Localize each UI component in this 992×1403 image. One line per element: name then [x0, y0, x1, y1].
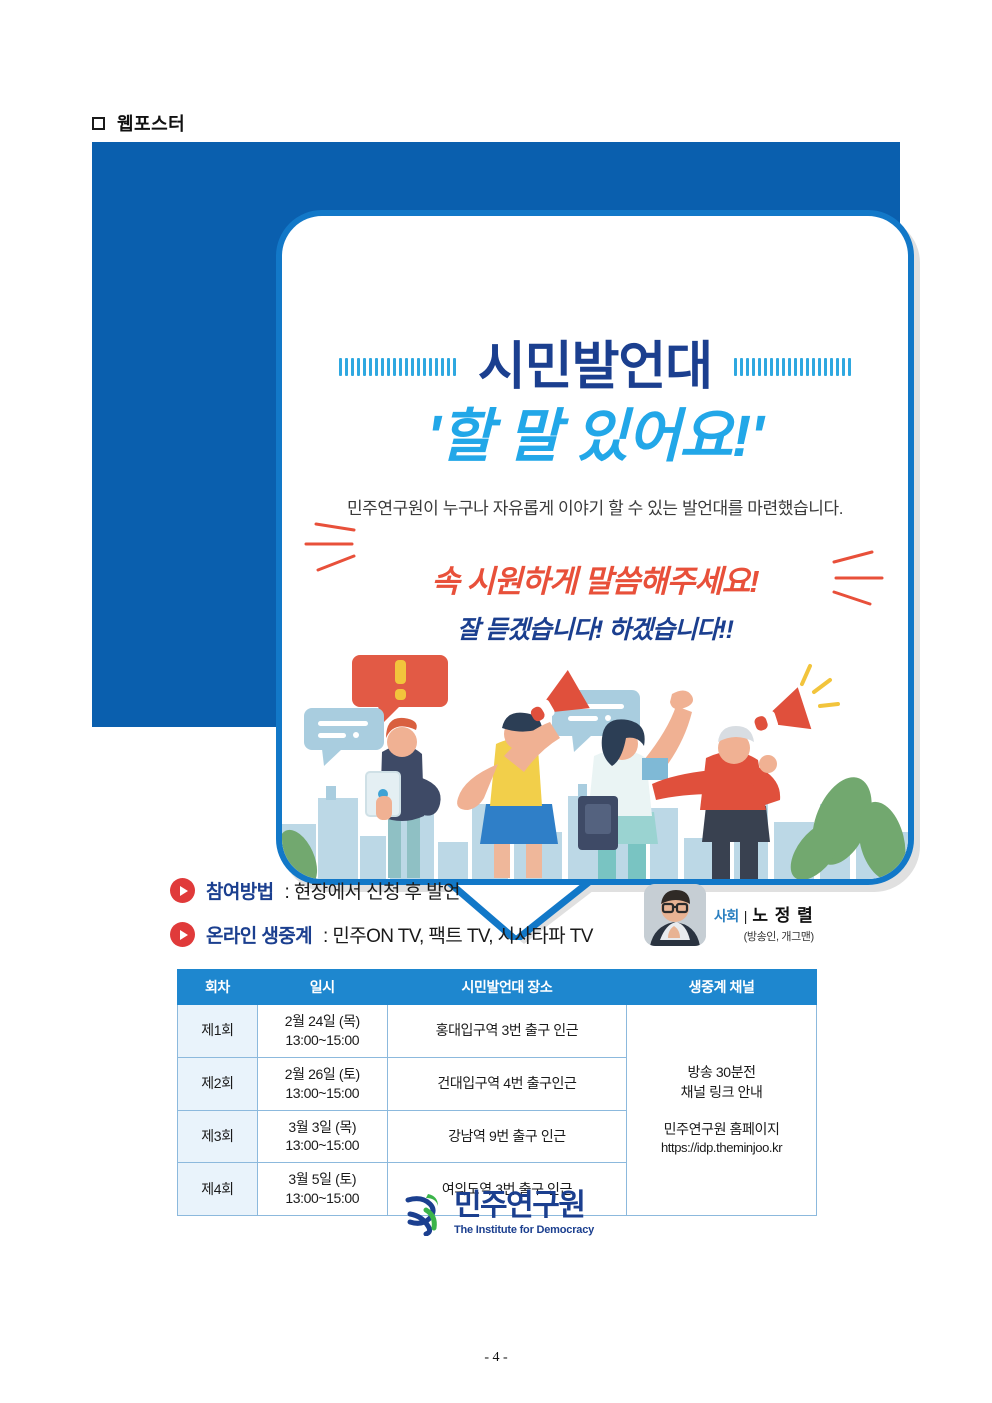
- document-section-header: 웹포스터: [92, 110, 185, 136]
- poster-shout-row: 속 시원하게 말씀해주세요!: [282, 556, 908, 601]
- cell-place: 홍대입구역 3번 출구 인근: [387, 1005, 626, 1058]
- play-circle-icon: [170, 878, 195, 903]
- spark-left-icon: [296, 522, 366, 582]
- logo-english-name: The Institute for Democracy: [454, 1224, 594, 1236]
- channel-spacer: [631, 1103, 812, 1119]
- table-row: 제1회 2월 24일 (목) 13:00~15:00 홍대입구역 3번 출구 인…: [178, 1005, 817, 1058]
- table-header-round: 회차: [178, 970, 258, 1005]
- square-bullet-icon: [92, 117, 105, 130]
- poster-lead-text: 민주연구원이 누구나 자유롭게 이야기 할 수 있는 발언대를 마련했습니다.: [282, 494, 908, 519]
- channel-line-2: 채널 링크 안내: [631, 1082, 812, 1102]
- people-megaphone-illustration-icon: [282, 646, 908, 885]
- info-value: : 민주ON TV, 팩트 TV, 시사타파 TV: [323, 921, 593, 948]
- cell-datetime: 3월 3일 (목) 13:00~15:00: [257, 1110, 387, 1163]
- poster-shout-text: 속 시원하게 말씀해주세요!: [431, 556, 758, 601]
- poster-subtitle: '할 말 있어요!': [282, 408, 908, 466]
- channel-url[interactable]: https://idp.theminjoo.kr: [631, 1139, 812, 1158]
- document-page: 웹포스터 시민발언대 '할 말 있어요!': [0, 0, 992, 1403]
- table-header-row: 회차 일시 시민발언대 장소 생중계 채널: [178, 970, 817, 1005]
- cell-place: 강남역 9번 출구 인근: [387, 1110, 626, 1163]
- table-header-channel: 생중계 채널: [627, 970, 817, 1005]
- organization-logo: 민주연구원 The Institute for Democracy: [92, 1190, 900, 1236]
- host-role-row: 사회 | 노 정 렬: [714, 901, 814, 926]
- logo-text: 민주연구원 The Institute for Democracy: [454, 1191, 594, 1236]
- info-key: 참여방법: [206, 877, 274, 904]
- dash-ornament-left-icon: [339, 358, 456, 376]
- cell-round: 제3회: [178, 1110, 258, 1163]
- poster-illustration: [282, 646, 908, 885]
- page-number: - 4 -: [0, 1350, 992, 1366]
- spark-right-icon: [826, 548, 896, 608]
- speech-bubble-card: 시민발언대 '할 말 있어요!' 민주연구원이 누구나 자유롭게 이야기 할 수…: [276, 210, 914, 885]
- host-block: 사회 | 노 정 렬 (방송인, 개그맨): [644, 884, 814, 946]
- play-circle-icon: [170, 922, 195, 947]
- section-title: 웹포스터: [117, 110, 185, 136]
- logo-korean-name: 민주연구원: [454, 1191, 594, 1221]
- host-name: 노 정 렬: [752, 901, 813, 926]
- cell-round: 제2회: [178, 1057, 258, 1110]
- host-separator: |: [744, 908, 748, 924]
- cell-datetime: 2월 26일 (토) 13:00~15:00: [257, 1057, 387, 1110]
- table-header-datetime: 일시: [257, 970, 387, 1005]
- poster-shout-secondary: 잘 듣겠습니다! 하겠습니다!!: [282, 610, 908, 646]
- cell-datetime: 2월 24일 (목) 13:00~15:00: [257, 1005, 387, 1058]
- channel-line-3: 민주연구원 홈페이지: [631, 1119, 812, 1139]
- cell-round: 제1회: [178, 1005, 258, 1058]
- host-portrait-icon: [644, 884, 706, 946]
- web-poster: 시민발언대 '할 말 있어요!' 민주연구원이 누구나 자유롭게 이야기 할 수…: [92, 142, 900, 1282]
- table-header-place: 시민발언대 장소: [387, 970, 626, 1005]
- host-avatar: [644, 884, 706, 946]
- channel-line-1: 방송 30분전: [631, 1062, 812, 1082]
- poster-title: 시민발언대: [478, 341, 712, 393]
- info-key: 온라인 생중계: [206, 921, 312, 948]
- minjoo-logo-mark-icon: [398, 1190, 444, 1236]
- cell-channel-info: 방송 30분전 채널 링크 안내 민주연구원 홈페이지 https://idp.…: [627, 1005, 817, 1216]
- host-meta: 사회 | 노 정 렬 (방송인, 개그맨): [714, 901, 814, 946]
- schedule-table: 회차 일시 시민발언대 장소 생중계 채널 제1회 2월 24일 (목) 13:…: [177, 969, 817, 1216]
- host-role-label: 사회: [714, 906, 739, 926]
- dash-ornament-right-icon: [734, 358, 851, 376]
- host-occupation-note: (방송인, 개그맨): [714, 928, 814, 944]
- poster-title-row: 시민발언대: [282, 341, 908, 393]
- cell-place: 건대입구역 4번 출구인근: [387, 1057, 626, 1110]
- info-value: : 현장에서 신청 후 발언: [285, 877, 460, 904]
